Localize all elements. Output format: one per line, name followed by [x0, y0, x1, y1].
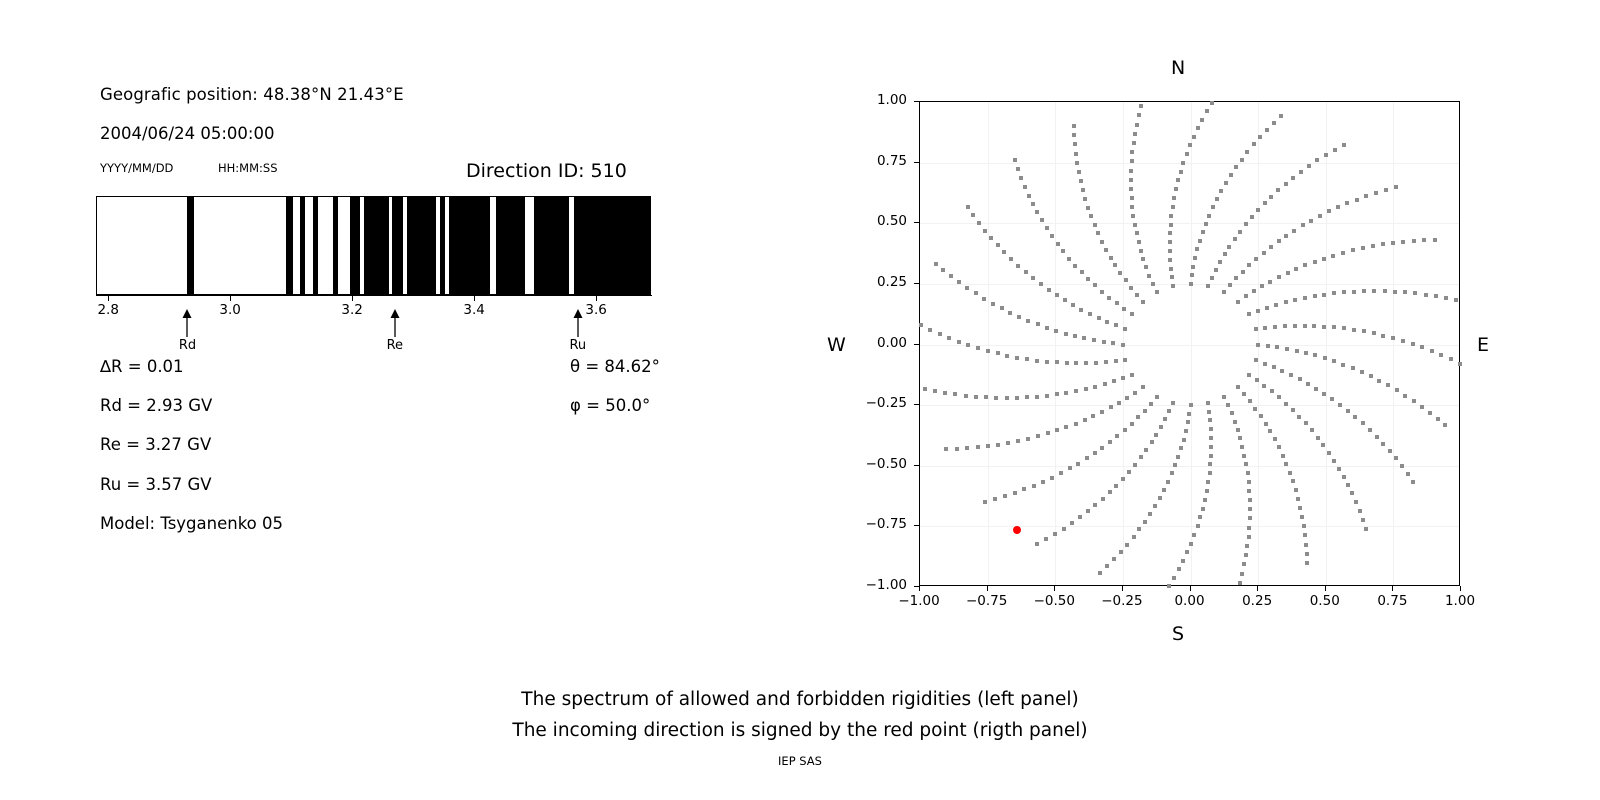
direction-point [1035, 210, 1039, 214]
direction-point [1207, 410, 1211, 414]
direction-point [1296, 497, 1300, 501]
direction-point [1234, 165, 1238, 169]
y-axis-tick-label: 0.50 [847, 213, 907, 229]
direction-point [1449, 357, 1453, 361]
direction-point [1247, 263, 1251, 267]
direction-point [1362, 329, 1366, 333]
y-axis-tick [914, 465, 919, 466]
direction-point [1391, 241, 1395, 245]
direction-point [1318, 214, 1322, 218]
direction-point [1171, 284, 1175, 288]
direction-point [1074, 361, 1078, 365]
direction-point [1292, 229, 1296, 233]
direction-point [1264, 422, 1268, 426]
direction-point [1260, 284, 1264, 288]
direction-point [1205, 109, 1209, 113]
direction-point [1361, 518, 1365, 522]
direction-point [1133, 132, 1137, 136]
direction-point [1169, 223, 1173, 227]
direction-point [1401, 339, 1405, 343]
x-axis-tick-label: 1.00 [1445, 593, 1475, 609]
direction-point [1135, 293, 1139, 297]
y-axis-tick-label: −0.50 [847, 456, 907, 472]
direction-point [1133, 391, 1137, 395]
direction-point [1233, 420, 1237, 424]
direction-point [974, 291, 978, 295]
direction-point [1203, 498, 1207, 502]
direction-point [1063, 298, 1067, 302]
direction-point [1191, 265, 1195, 269]
direction-point [1248, 498, 1252, 502]
direction-point [1211, 205, 1215, 209]
direction-point [1005, 396, 1009, 400]
direction-point [1301, 223, 1305, 227]
direction-point [1130, 159, 1134, 163]
direction-point [1208, 462, 1212, 466]
direction-point [1209, 436, 1213, 440]
direction-point [1112, 379, 1116, 383]
direction-point [1153, 504, 1157, 508]
direction-point [1092, 338, 1096, 342]
direction-point [1234, 276, 1238, 280]
direction-point [1115, 434, 1119, 438]
direction-point [1377, 379, 1381, 383]
direction-point [1240, 445, 1244, 449]
direction-point [1136, 415, 1140, 419]
y-axis-tick-label: −0.25 [847, 395, 907, 411]
direction-point [1275, 345, 1279, 349]
direction-point [1000, 306, 1004, 310]
direction-point [1393, 290, 1397, 294]
direction-point [1114, 359, 1118, 363]
gridline-vertical [1191, 102, 1192, 585]
direction-point [1284, 234, 1288, 238]
direction-point [1262, 384, 1266, 388]
direction-point [1294, 488, 1298, 492]
direction-point [1200, 118, 1204, 122]
direction-point [1041, 480, 1045, 484]
direction-point [1171, 205, 1175, 209]
compass-south-label: S [1172, 623, 1184, 645]
direction-point [1307, 164, 1311, 168]
direction-point [1137, 527, 1141, 531]
direction-point [1141, 257, 1145, 261]
direction-point [1244, 462, 1248, 466]
x-axis-tick [1122, 586, 1123, 591]
direction-point [1244, 553, 1248, 557]
direction-point [1330, 397, 1334, 401]
direction-point [1208, 471, 1212, 475]
direction-point [1121, 477, 1125, 481]
direction-point [1286, 271, 1290, 275]
direction-point [1006, 441, 1010, 445]
direction-point [1035, 359, 1039, 363]
direction-point [1298, 506, 1302, 510]
direction-point [1036, 434, 1040, 438]
direction-point [1280, 369, 1284, 373]
polar-scatter-plot [919, 101, 1460, 586]
direction-point [1336, 205, 1340, 209]
direction-point [1112, 557, 1116, 561]
y-axis-tick-label: −1.00 [847, 577, 907, 593]
direction-point [1141, 385, 1145, 389]
direction-point [1192, 135, 1196, 139]
gridline-vertical [1393, 102, 1394, 585]
direction-point [1083, 418, 1087, 422]
direction-point [1205, 489, 1209, 493]
direction-point [1032, 484, 1036, 488]
direction-point [1238, 230, 1242, 234]
direction-point [1046, 431, 1050, 435]
direction-point [1312, 324, 1316, 328]
direction-point [1100, 240, 1104, 244]
direction-point [1187, 412, 1191, 416]
direction-point [1103, 382, 1107, 386]
direction-point [1170, 275, 1174, 279]
direction-point [1285, 347, 1289, 351]
direction-point [1247, 526, 1251, 530]
direction-point [1364, 194, 1368, 198]
direction-point [1195, 247, 1199, 251]
direction-point [1135, 123, 1139, 127]
direction-point [1111, 341, 1115, 345]
direction-point [1158, 496, 1162, 500]
direction-point [1044, 537, 1048, 541]
direction-point [1016, 167, 1020, 171]
direction-point [1369, 374, 1373, 378]
direction-point [1131, 214, 1135, 218]
direction-point [1276, 188, 1280, 192]
direction-point [983, 229, 987, 233]
direction-point [1166, 480, 1170, 484]
direction-point [989, 236, 993, 240]
direction-point [1179, 170, 1183, 174]
direction-point [974, 395, 978, 399]
direction-point [1074, 389, 1078, 393]
direction-point [1083, 197, 1087, 201]
y-axis-tick [914, 283, 919, 284]
gridline-horizontal [920, 223, 1459, 224]
direction-point [1130, 196, 1134, 200]
direction-point [1173, 463, 1177, 467]
direction-point [1026, 319, 1030, 323]
direction-point [1204, 222, 1208, 226]
direction-point [1055, 293, 1059, 297]
direction-point [1227, 245, 1231, 249]
direction-point [944, 447, 948, 451]
direction-point [1406, 472, 1410, 476]
direction-point [976, 445, 980, 449]
direction-point [1364, 527, 1368, 531]
direction-point [1077, 170, 1081, 174]
direction-point [1056, 242, 1060, 246]
direction-point [1073, 142, 1077, 146]
direction-point [1100, 290, 1104, 294]
direction-point [1137, 240, 1141, 244]
direction-point [1255, 378, 1259, 382]
direction-point [1245, 544, 1249, 548]
direction-point [1310, 428, 1314, 432]
direction-point [1304, 421, 1308, 425]
direction-point [1206, 401, 1210, 405]
direction-point [1093, 385, 1097, 389]
direction-point [934, 262, 938, 266]
direction-point [1250, 215, 1254, 219]
direction-point [1324, 153, 1328, 157]
direction-point [1291, 408, 1295, 412]
direction-point [1096, 231, 1100, 235]
direction-point [1148, 512, 1152, 516]
direction-point [953, 392, 957, 396]
direction-point [1076, 462, 1080, 466]
direction-point [1342, 143, 1346, 147]
direction-point [1078, 515, 1082, 519]
direction-point [1386, 383, 1390, 387]
direction-point [1109, 256, 1113, 260]
direction-point [1303, 263, 1307, 267]
direction-point [1155, 290, 1159, 294]
direction-point [1016, 264, 1020, 268]
direction-point [1293, 298, 1297, 302]
direction-point [1268, 429, 1272, 433]
direction-point [966, 343, 970, 347]
x-axis-tick-label: 0.00 [1174, 593, 1204, 609]
direction-point [1238, 436, 1242, 440]
direction-point [971, 213, 975, 217]
direction-point [1084, 387, 1088, 391]
direction-point [1074, 422, 1078, 426]
x-axis-tick-label: 0.50 [1310, 593, 1340, 609]
x-axis-tick [1325, 586, 1326, 591]
direction-point [1130, 422, 1134, 426]
direction-point [1256, 208, 1260, 212]
direction-point [991, 302, 995, 306]
y-axis-tick-label: 1.00 [847, 92, 907, 108]
direction-point [1023, 185, 1027, 189]
direction-point [1412, 239, 1416, 243]
direction-point [1079, 308, 1083, 312]
direction-point [941, 268, 945, 272]
direction-point [1258, 135, 1262, 139]
direction-point [1236, 428, 1240, 432]
direction-point [1303, 533, 1307, 537]
x-axis-tick-label: −1.00 [898, 593, 939, 609]
direction-point [1273, 325, 1277, 329]
direction-point [1061, 249, 1065, 253]
direction-point [1162, 488, 1166, 492]
direction-point [1196, 524, 1200, 528]
direction-point [1229, 173, 1233, 177]
direction-point [1139, 249, 1143, 253]
direction-point [1080, 270, 1084, 274]
direction-point [1384, 188, 1388, 192]
direction-point [1346, 409, 1350, 413]
direction-point [1342, 290, 1346, 294]
direction-point [1093, 451, 1097, 455]
direction-point [1291, 479, 1295, 483]
direction-point [1143, 520, 1147, 524]
direction-point [1352, 328, 1356, 332]
direction-point [1331, 254, 1335, 258]
direction-point [1017, 315, 1021, 319]
direction-point [1130, 150, 1134, 154]
direction-point [1167, 584, 1171, 588]
direction-point [1064, 391, 1068, 395]
direction-point [1084, 361, 1088, 365]
direction-point [1104, 360, 1108, 364]
direction-point [1281, 454, 1285, 458]
direction-point [1284, 402, 1288, 406]
direction-point [1015, 396, 1019, 400]
direction-point [1338, 403, 1342, 407]
direction-point [976, 346, 980, 350]
direction-point [1168, 258, 1172, 262]
direction-point [1215, 197, 1219, 201]
direction-point [1254, 358, 1258, 362]
direction-point [1082, 336, 1086, 340]
direction-point [1210, 276, 1214, 280]
direction-point [1053, 532, 1057, 536]
direction-point [1107, 296, 1111, 300]
direction-point [1224, 181, 1228, 185]
direction-point [1129, 169, 1133, 173]
direction-point [1121, 343, 1125, 347]
gridline-vertical [1055, 102, 1056, 585]
direction-point [1403, 394, 1407, 398]
direction-plot-panel: N S E W −1.00−0.75−0.50−0.250.000.250.50… [0, 0, 1600, 660]
direction-point [1139, 104, 1143, 108]
direction-point [1132, 141, 1136, 145]
direction-point [1133, 223, 1137, 227]
direction-point [1304, 543, 1308, 547]
direction-point [1395, 388, 1399, 392]
direction-point [1055, 428, 1059, 432]
direction-point [1247, 312, 1251, 316]
direction-point [1341, 251, 1345, 255]
direction-point [1218, 260, 1222, 264]
direction-point [1272, 121, 1276, 125]
direction-point [1123, 358, 1127, 362]
direction-point [1086, 206, 1090, 210]
direction-point [1371, 244, 1375, 248]
direction-point [1209, 445, 1213, 449]
direction-point [1185, 152, 1189, 156]
direction-point [1240, 572, 1244, 576]
figure-caption: The spectrum of allowed and forbidden ri… [0, 684, 1600, 746]
direction-point [1433, 238, 1437, 242]
direction-point [1244, 294, 1248, 298]
direction-point [996, 243, 1000, 247]
direction-point [1240, 158, 1244, 162]
compass-west-label: W [827, 334, 846, 356]
direction-point [1208, 418, 1212, 422]
direction-point [1316, 436, 1320, 440]
direction-point [1068, 466, 1072, 470]
x-axis-tick [1257, 586, 1258, 591]
x-axis-tick-label: −0.50 [1034, 593, 1075, 609]
direction-point [1242, 392, 1246, 396]
direction-point [1269, 195, 1273, 199]
y-axis-tick-label: −0.75 [847, 516, 907, 532]
direction-point [1269, 245, 1273, 249]
direction-point [957, 280, 961, 284]
direction-point [1045, 394, 1049, 398]
direction-point [1026, 437, 1030, 441]
direction-point [1190, 273, 1194, 277]
direction-point [947, 336, 951, 340]
direction-point [1362, 289, 1366, 293]
direction-point [949, 274, 953, 278]
direction-point [983, 500, 987, 504]
direction-point [1118, 271, 1122, 275]
direction-point [1093, 223, 1097, 227]
direction-point [994, 396, 998, 400]
direction-point [1322, 392, 1326, 396]
direction-point [1304, 351, 1308, 355]
direction-point [1050, 476, 1054, 480]
direction-point [1454, 298, 1458, 302]
y-axis-tick [914, 101, 919, 102]
direction-point [1170, 471, 1174, 475]
direction-point [1242, 562, 1246, 566]
direction-point [1262, 251, 1266, 255]
x-axis-tick [987, 586, 988, 591]
direction-point [1184, 429, 1188, 433]
direction-point [938, 332, 942, 336]
direction-point [1176, 455, 1180, 459]
direction-point [1222, 395, 1226, 399]
direction-point [1064, 332, 1068, 336]
direction-point [1073, 264, 1077, 268]
direction-point [1009, 257, 1013, 261]
direction-point [1169, 214, 1173, 218]
direction-point [1039, 282, 1043, 286]
direction-point [1137, 113, 1141, 117]
direction-point [1350, 491, 1354, 495]
direction-point [1358, 509, 1362, 513]
gridline-horizontal [920, 163, 1459, 164]
x-axis-tick-label: −0.75 [966, 593, 1007, 609]
direction-point [1439, 353, 1443, 357]
direction-point [1266, 344, 1270, 348]
direction-point [928, 328, 932, 332]
direction-point [1108, 440, 1112, 444]
direction-point [1031, 276, 1035, 280]
direction-point [1277, 239, 1281, 243]
direction-point [1394, 185, 1398, 189]
direction-point [1189, 282, 1193, 286]
direction-point [1302, 524, 1306, 528]
y-axis-tick [914, 344, 919, 345]
direction-point [1059, 471, 1063, 475]
direction-point [1130, 205, 1134, 209]
direction-point [1045, 226, 1049, 230]
direction-point [1420, 345, 1424, 349]
direction-point [1185, 550, 1189, 554]
direction-point [1238, 581, 1242, 585]
direction-point [1047, 288, 1051, 292]
direction-point [1444, 296, 1448, 300]
direction-point [1168, 231, 1172, 235]
direction-point [1013, 158, 1017, 162]
direction-point [1035, 542, 1039, 546]
direction-point [1270, 389, 1274, 393]
direction-point [1003, 494, 1007, 498]
direction-point [1305, 561, 1309, 565]
direction-point [1248, 507, 1252, 511]
gridline-vertical [1326, 102, 1327, 585]
direction-point [1400, 464, 1404, 468]
